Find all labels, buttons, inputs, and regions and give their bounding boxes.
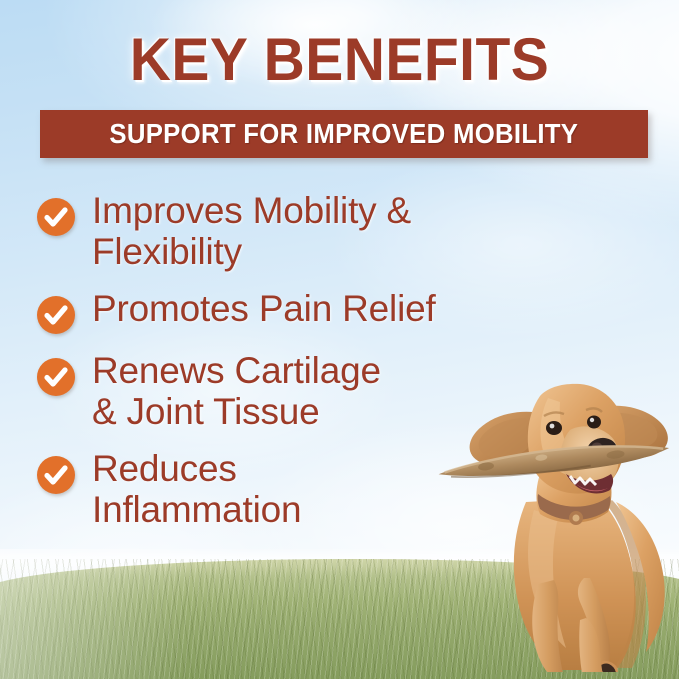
- subtitle-banner: SUPPORT FOR IMPROVED MOBILITY: [40, 110, 648, 158]
- list-item-label: Reduces Inflammation: [92, 448, 301, 530]
- check-circle-icon: [37, 198, 75, 236]
- check-circle-icon: [37, 358, 75, 396]
- page-title: KEY BENEFITS: [17, 30, 662, 90]
- benefits-list: Improves Mobility & Flexibility Promotes…: [37, 190, 457, 544]
- check-circle-icon: [37, 456, 75, 494]
- check-circle-icon: [37, 296, 75, 334]
- list-item: Renews Cartilage & Joint Tissue: [37, 350, 457, 432]
- key-benefits-infographic: KEY BENEFITS SUPPORT FOR IMPROVED MOBILI…: [0, 0, 679, 679]
- list-item: Promotes Pain Relief: [37, 288, 457, 334]
- list-item: Reduces Inflammation: [37, 448, 457, 530]
- grass-left-fade: [0, 549, 190, 679]
- list-item-label: Promotes Pain Relief: [92, 288, 436, 329]
- list-item: Improves Mobility & Flexibility: [37, 190, 457, 272]
- list-item-label: Improves Mobility & Flexibility: [92, 190, 411, 272]
- dog-photo: [430, 352, 679, 672]
- subtitle-banner-text: SUPPORT FOR IMPROVED MOBILITY: [110, 120, 579, 148]
- list-item-label: Renews Cartilage & Joint Tissue: [92, 350, 381, 432]
